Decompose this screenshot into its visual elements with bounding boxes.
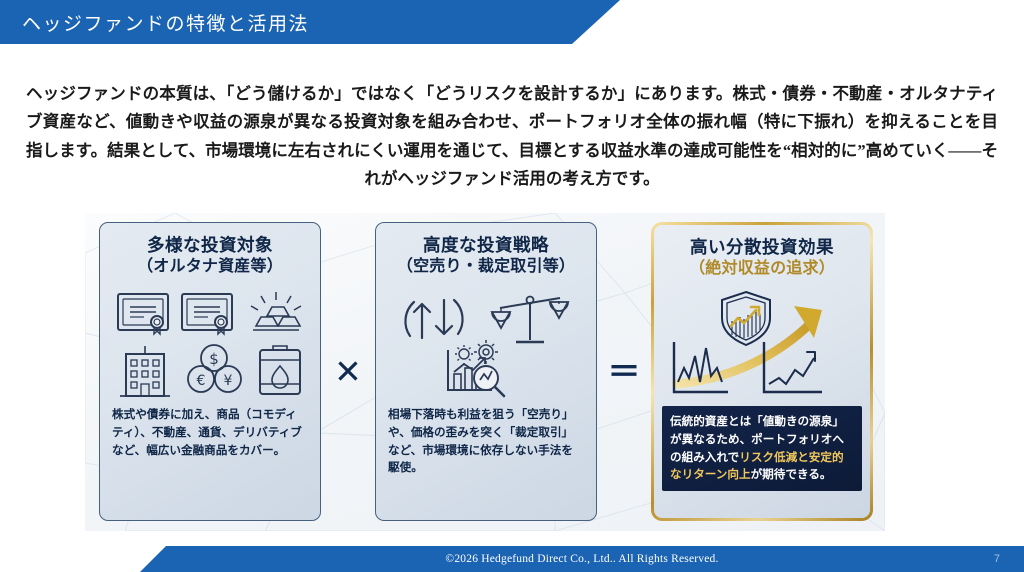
shield-chart-icon (722, 292, 770, 345)
page-title: ヘッジファンドの特徴と活用法 (0, 9, 309, 36)
svg-text:$: $ (209, 350, 219, 368)
building-icon (120, 346, 170, 396)
gold-bars-icon (251, 292, 301, 330)
panel-3-title: 高い分散投資効果 (690, 237, 834, 258)
panel-1-icon-group: $ € ¥ (110, 286, 310, 398)
copyright-text: ©2026 Hedgefund Direct Co., Ltd.. All Ri… (445, 553, 718, 565)
panel-2-icon-group (386, 286, 586, 398)
panel-1-subtitle: （オルタナ資産等） (137, 257, 283, 277)
panel-2-title: 高度な投資戦略 (423, 235, 549, 256)
slide-footer: ©2026 Hedgefund Direct Co., Ltd.. All Ri… (140, 546, 1024, 572)
panel-1-title: 多様な投資対象 (147, 235, 273, 256)
certificate-icon (182, 294, 232, 334)
panel-3-subtitle: （絶対収益の追求） (689, 259, 835, 279)
oil-barrel-icon (260, 346, 300, 394)
chart-gears-magnifier-icon (448, 340, 504, 396)
certificate-icon (118, 294, 168, 334)
panel-row: 多様な投資対象 （オルタナ資産等） (85, 213, 885, 531)
lead-paragraph: ヘッジファンドの本質は、「どう儲けるか」ではなく「どうリスクを設計するか」にあり… (26, 80, 998, 194)
panel-diversification-effect[interactable]: 高い分散投資効果 （絶対収益の追求） (651, 222, 873, 521)
panel-1-body: 株式や債券に加え、商品（コモディティ）、不動産、通貨、デリバティブなど、幅広い金… (112, 406, 308, 459)
operator-equals: ＝ (602, 222, 646, 521)
diagram-area: 多様な投資対象 （オルタナ資産等） (85, 213, 885, 531)
panel-investment-targets[interactable]: 多様な投資対象 （オルタナ資産等） (99, 222, 321, 521)
page-number: 7 (994, 553, 1000, 565)
operator-multiply: ✕ (326, 222, 370, 521)
swap-arrows-icon (405, 300, 462, 338)
panel-3-body: 伝統的資産とは「値動きの源泉」が異なるため、ポートフォリオへの組み入れでリスク低… (662, 406, 862, 490)
panel-2-subtitle: （空売り・裁定取引等） (397, 257, 575, 277)
balance-scales-icon (492, 297, 568, 343)
svg-text:€: € (197, 373, 206, 389)
svg-text:¥: ¥ (224, 373, 233, 389)
slide-header: ヘッジファンドの特徴と活用法 (0, 0, 620, 44)
panel-3-icon-group (662, 288, 862, 400)
slide: ヘッジファンドの特徴と活用法 ヘッジファンドの本質は、「どう儲けるか」ではなく「… (0, 0, 1024, 572)
panel-3-body-part-3: が期待できる。 (751, 468, 832, 481)
panel-investment-strategy[interactable]: 高度な投資戦略 （空売り・裁定取引等） (375, 222, 597, 521)
currency-coins-icon: $ € ¥ (188, 345, 241, 392)
panel-2-body: 相場下落時も利益を狙う「空売り」や、価格の歪みを突く「裁定取引」など、市場環境に… (388, 406, 584, 476)
